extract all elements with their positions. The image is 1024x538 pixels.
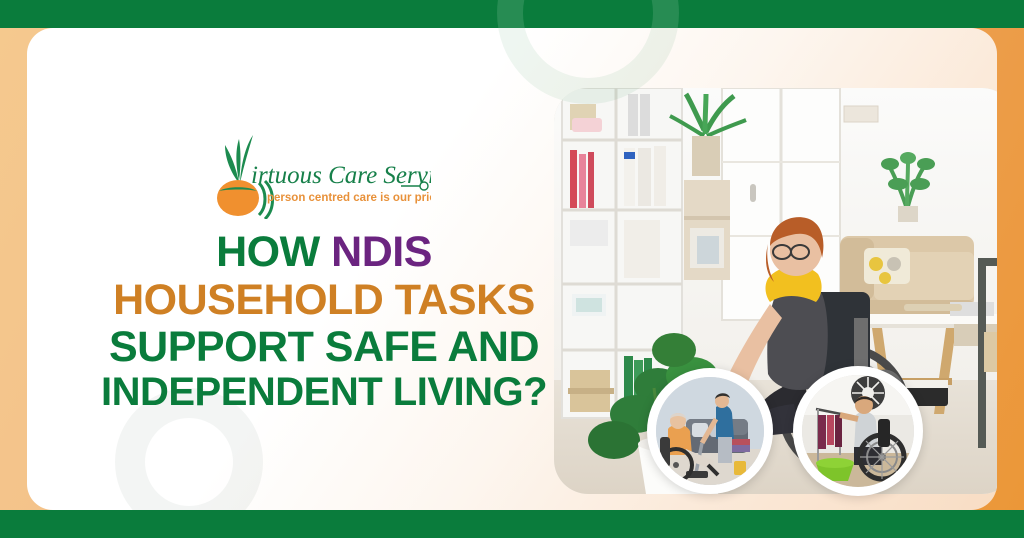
headline-line-3: SUPPORT SAFE AND — [89, 326, 559, 368]
headline-ndis: NDIS — [331, 228, 432, 276]
inset-photo-vacuuming — [647, 368, 773, 494]
inset-photo-laundry-image — [802, 375, 914, 487]
headline-line-1: HOW NDIS — [89, 231, 559, 273]
inset-photo-vacuuming-image — [656, 377, 764, 485]
headline-line-2: HOUSEHOLD TASKS — [89, 279, 559, 321]
banner: irtuous Care Services person centred car… — [0, 0, 1024, 538]
svg-text:irtuous Care Services: irtuous Care Services — [251, 162, 431, 189]
inset-photo-laundry — [793, 366, 923, 496]
headline: HOW NDIS HOUSEHOLD TASKS SUPPORT SAFE AN… — [89, 231, 559, 413]
headline-how: HOW — [216, 228, 331, 276]
svg-text:person centred care is our pri: person centred care is our priority — [267, 192, 431, 204]
logo[interactable]: irtuous Care Services person centred car… — [205, 131, 431, 219]
headline-line-4: INDEPENDENT LIVING? — [89, 373, 559, 412]
content-card: irtuous Care Services person centred car… — [27, 28, 997, 510]
main-photo — [554, 88, 997, 494]
